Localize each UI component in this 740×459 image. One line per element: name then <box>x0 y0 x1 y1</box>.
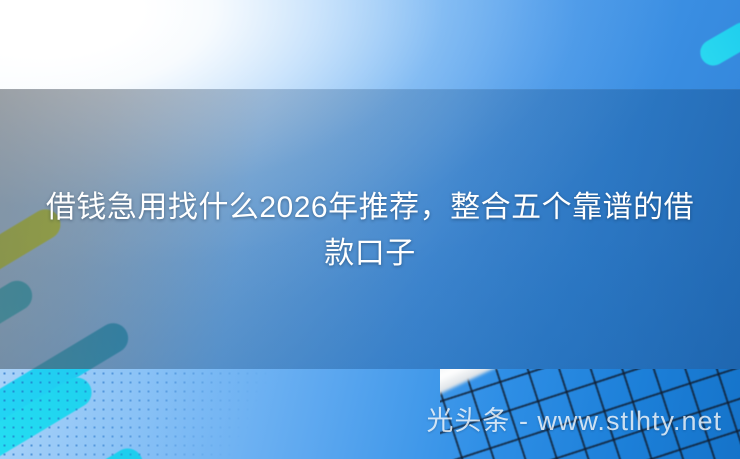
site-watermark: 光头条 - www.stlhty.net <box>0 404 740 438</box>
banner-title: 借钱急用找什么2026年推荐，整合五个靠谱的借款口子 <box>0 185 740 277</box>
site-watermark-text: 光头条 - www.stlhty.net <box>426 406 722 436</box>
banner-title-text: 借钱急用找什么2026年推荐，整合五个靠谱的借款口子 <box>46 191 694 270</box>
article-banner-image: 借钱急用找什么2026年推荐，整合五个靠谱的借款口子 光头条 - www.stl… <box>0 0 740 459</box>
